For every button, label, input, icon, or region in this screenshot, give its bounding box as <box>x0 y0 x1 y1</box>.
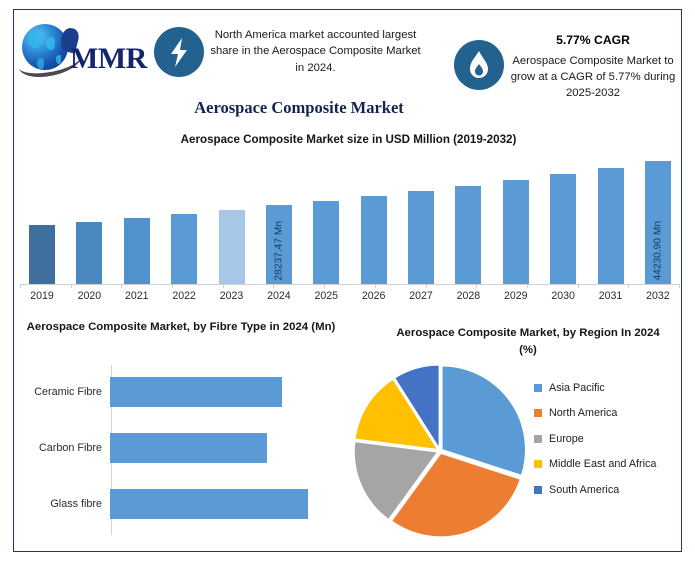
infographic-page: MMR North America market accounted large… <box>0 0 695 564</box>
bar-column <box>115 156 159 284</box>
bar-column <box>304 156 348 284</box>
x-axis-tick-label: 2020 <box>67 290 111 302</box>
mmr-logo: MMR <box>18 20 148 82</box>
bar <box>503 180 529 284</box>
x-axis-tick-label: 2027 <box>399 290 443 302</box>
bar-column <box>210 156 254 284</box>
market-size-chart: Aerospace Composite Market size in USD M… <box>14 130 683 312</box>
x-axis-tick <box>578 284 579 288</box>
header: MMR North America market accounted large… <box>14 10 683 130</box>
x-axis-ticks <box>20 284 680 289</box>
bar-column <box>352 156 396 284</box>
fibre-bar <box>110 433 267 463</box>
x-axis-tick-label: 2022 <box>162 290 206 302</box>
x-axis-tick <box>172 284 173 288</box>
pie-graphic <box>352 363 527 538</box>
logo-text: MMR <box>70 42 147 76</box>
x-axis-tick-label: 2021 <box>115 290 159 302</box>
flame-icon <box>454 40 504 90</box>
region-legend: Asia PacificNorth AmericaEuropeMiddle Ea… <box>534 375 684 503</box>
legend-swatch <box>534 384 542 392</box>
legend-label: Asia Pacific <box>549 382 605 394</box>
x-axis-tick-label: 2025 <box>304 290 348 302</box>
legend-label: South America <box>549 484 619 496</box>
fibre-bar <box>110 489 308 519</box>
x-axis-tick <box>223 284 224 288</box>
x-axis-tick-label: 2031 <box>589 290 633 302</box>
legend-item: Asia Pacific <box>534 375 684 401</box>
callout-left-text: North America market accounted largest s… <box>208 27 423 76</box>
legend-swatch <box>534 460 542 468</box>
bar <box>361 196 387 284</box>
bar-column <box>541 156 585 284</box>
x-axis-tick <box>426 284 427 288</box>
bar-column: 44230.90 Mn <box>636 156 680 284</box>
region-pie-chart: Aerospace Composite Market, by Region In… <box>348 313 683 551</box>
bar-column <box>162 156 206 284</box>
market-size-bars: 28237.47 Mn44230.90 Mn <box>20 156 680 284</box>
bar-column: 28237.47 Mn <box>257 156 301 284</box>
legend-item: Europe <box>534 426 684 452</box>
bar: 44230.90 Mn <box>645 161 671 284</box>
x-axis-tick <box>679 284 680 288</box>
bar-column <box>20 156 64 284</box>
x-axis-tick <box>476 284 477 288</box>
page-frame: MMR North America market accounted large… <box>13 9 682 552</box>
bar-value-label: 44230.90 Mn <box>652 221 663 280</box>
x-axis-tick <box>71 284 72 288</box>
x-axis-tick-label: 2032 <box>636 290 680 302</box>
legend-swatch <box>534 435 542 443</box>
fibre-row: Carbon Fibre <box>30 429 334 467</box>
fibre-type-chart-title: Aerospace Composite Market, by Fibre Typ… <box>22 319 340 336</box>
x-axis-tick <box>273 284 274 288</box>
bar: 28237.47 Mn <box>266 205 292 284</box>
x-axis-tick-label: 2019 <box>20 290 64 302</box>
page-title: Aerospace Composite Market <box>134 98 464 118</box>
x-axis-tick-label: 2030 <box>541 290 585 302</box>
region-pie-chart-title: Aerospace Composite Market, by Region In… <box>388 325 668 358</box>
bar <box>29 225 55 284</box>
x-axis-tick-label: 2023 <box>210 290 254 302</box>
x-axis-tick <box>20 284 21 288</box>
bar <box>171 214 197 284</box>
fibre-type-chart: Aerospace Composite Market, by Fibre Typ… <box>14 313 348 551</box>
x-axis-tick-label: 2028 <box>446 290 490 302</box>
fibre-category-label: Carbon Fibre <box>30 441 108 455</box>
x-axis-tick <box>121 284 122 288</box>
legend-label: Europe <box>549 433 584 445</box>
legend-swatch <box>534 409 542 417</box>
fibre-type-plot: Ceramic FibreCarbon FibreGlass fibre <box>30 365 334 537</box>
legend-item: South America <box>534 477 684 503</box>
x-axis-tick <box>324 284 325 288</box>
bar <box>550 174 576 284</box>
bar <box>313 201 339 284</box>
bar <box>455 186 481 284</box>
x-axis-tick <box>375 284 376 288</box>
bar <box>598 168 624 284</box>
legend-item: Middle East and Africa <box>534 452 684 478</box>
x-axis-labels: 2019202020212022202320242025202620272028… <box>20 290 680 302</box>
fibre-category-label: Ceramic Fibre <box>30 385 108 399</box>
legend-swatch <box>534 486 542 494</box>
market-size-chart-title: Aerospace Composite Market size in USD M… <box>14 133 683 146</box>
cagr-description: Aerospace Composite Market to grow at a … <box>511 55 676 100</box>
bar-value-label: 28237.47 Mn <box>273 221 284 280</box>
x-axis-tick-label: 2024 <box>257 290 301 302</box>
bar <box>408 191 434 284</box>
bar-column <box>399 156 443 284</box>
x-axis-tick-label: 2029 <box>494 290 538 302</box>
lightning-bolt-icon <box>154 27 204 77</box>
bar-column <box>494 156 538 284</box>
fibre-row: Ceramic Fibre <box>30 373 334 411</box>
bar <box>219 210 245 284</box>
x-axis-tick <box>527 284 528 288</box>
legend-label: Middle East and Africa <box>549 458 656 470</box>
cagr-value: 5.77% CAGR <box>507 32 679 50</box>
bar-column <box>589 156 633 284</box>
bar <box>124 218 150 284</box>
callout-right-text: 5.77% CAGR Aerospace Composite Market to… <box>507 32 679 102</box>
bar <box>76 222 102 284</box>
legend-item: North America <box>534 401 684 427</box>
bar-column <box>446 156 490 284</box>
x-axis-tick-label: 2026 <box>352 290 396 302</box>
fibre-category-label: Glass fibre <box>30 497 108 511</box>
bar-column <box>67 156 111 284</box>
fibre-row: Glass fibre <box>30 485 334 523</box>
x-axis-tick <box>628 284 629 288</box>
legend-label: North America <box>549 407 617 419</box>
fibre-bar <box>110 377 282 407</box>
